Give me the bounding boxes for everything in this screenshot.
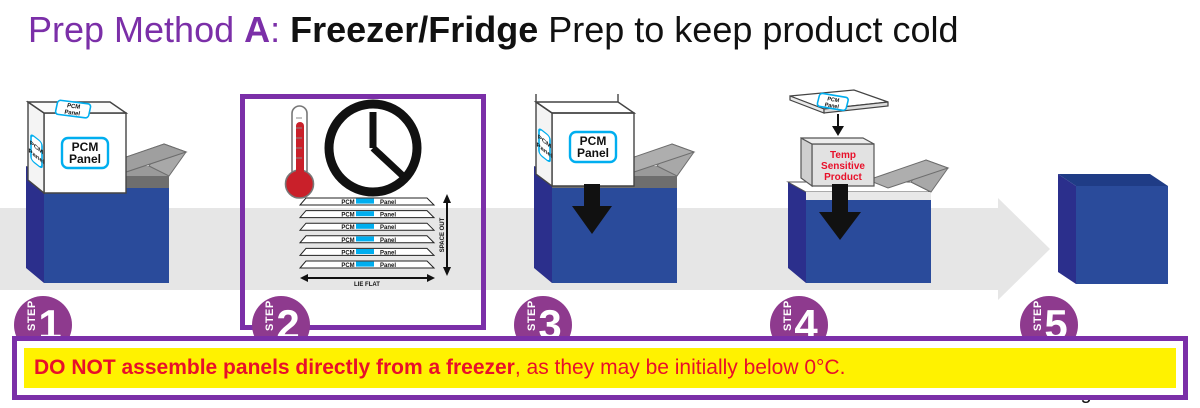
svg-text:Panel: Panel	[380, 200, 396, 206]
title-part-freezer-fridge: Freezer/Fridge	[290, 9, 538, 50]
prep-method-diagram: Prep Method A: Freezer/Fridge Prep to ke…	[0, 0, 1200, 408]
step-3[interactable]: PCM Panel PCM Panel STEP 3 Assemble PCM …	[522, 88, 772, 328]
title-part-colon: :	[270, 9, 290, 50]
svg-text:PCM: PCM	[341, 250, 354, 256]
space-out-label: SPACE OUT	[440, 217, 446, 252]
warning-text-rest: , as they may be initially below 0°C.	[515, 356, 846, 379]
product-label-line1: Temp	[830, 150, 856, 161]
thermometer-icon	[286, 106, 314, 198]
product-label-line3: Product	[824, 172, 862, 183]
step-3-illustration: PCM Panel PCM Panel	[522, 88, 772, 288]
svg-text:PCM: PCM	[341, 238, 354, 244]
title-part-method-letter: A	[244, 9, 270, 50]
clock-icon	[329, 104, 417, 192]
step-5[interactable]: STEP 5 Close Bag/Case	[1026, 88, 1200, 328]
svg-text:Panel: Panel	[380, 225, 396, 231]
svg-text:Panel: Panel	[380, 263, 396, 269]
lie-flat-dimension: LIE FLAT	[300, 274, 435, 284]
space-out-dimension: SPACE OUT	[438, 194, 456, 276]
warning-text-bold: DO NOT assemble panels directly from a f…	[34, 356, 515, 379]
step-1-illustration: PCM Panel PCM Panel PCM Panel	[14, 88, 264, 288]
pcm-panel-rows: PCMPanelPCMPanelPCMPanelPCMPanelPCMPanel…	[300, 196, 435, 272]
svg-text:PCM: PCM	[341, 200, 354, 206]
svg-text:Panel: Panel	[69, 152, 101, 166]
panel-stack: PCMPanelPCMPanelPCMPanelPCMPanelPCMPanel…	[300, 196, 435, 272]
step-2-illustration: PCMPanelPCMPanelPCMPanelPCMPanelPCMPanel…	[256, 88, 506, 288]
title-part-tagline: Prep to keep product cold	[538, 9, 958, 50]
title-part-prep-method: Prep Method	[28, 9, 244, 50]
step-2[interactable]: PCMPanelPCMPanelPCMPanelPCMPanelPCMPanel…	[256, 88, 506, 328]
svg-text:Panel: Panel	[380, 213, 396, 219]
step-1[interactable]: PCM Panel PCM Panel PCM Panel STEP 1	[14, 88, 264, 328]
svg-text:Panel: Panel	[380, 250, 396, 256]
svg-text:PCM: PCM	[341, 213, 354, 219]
step-4-illustration: PCM Panel Temp Sensitive Product	[776, 88, 1026, 288]
svg-text:PCM: PCM	[341, 263, 354, 269]
step-5-illustration	[1026, 88, 1200, 288]
lie-flat-label: LIE FLAT	[354, 282, 380, 288]
svg-text:Panel: Panel	[577, 146, 609, 160]
svg-text:PCM: PCM	[341, 225, 354, 231]
product-label-line2: Sensitive	[821, 161, 865, 172]
warning-text: DO NOT assemble panels directly from a f…	[34, 350, 1174, 386]
step-4[interactable]: PCM Panel Temp Sensitive Product STEP 4	[776, 88, 1026, 328]
page-title: Prep Method A: Freezer/Fridge Prep to ke…	[28, 8, 959, 52]
svg-text:Panel: Panel	[380, 238, 396, 244]
